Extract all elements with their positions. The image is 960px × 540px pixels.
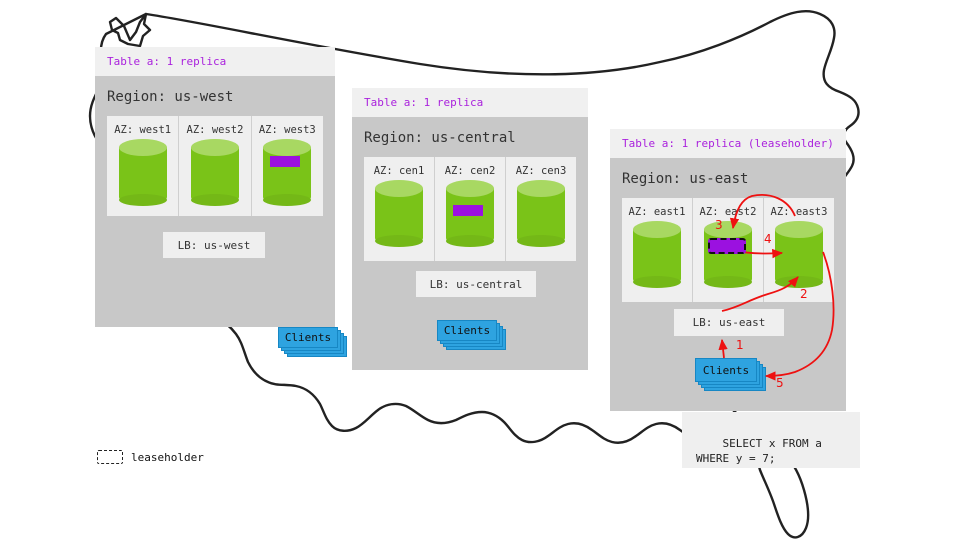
clients-stack-us-west[interactable]: Clients [278, 327, 344, 353]
cylinder-top [633, 221, 681, 238]
region-panel-us-east: Table a: 1 replica (leaseholder) Region:… [610, 129, 846, 411]
az-west1[interactable]: AZ: west1 [107, 116, 179, 216]
region-title-us-central: Region: us-central [352, 117, 588, 157]
step-number-5: 5 [776, 377, 784, 389]
node-cylinder-west1 [119, 147, 167, 205]
cylinder-top [446, 180, 494, 197]
legend-label: leaseholder [131, 452, 204, 463]
az-cen2[interactable]: AZ: cen2 [435, 157, 506, 261]
replica-block-cen2 [453, 205, 483, 216]
node-cylinder-cen1 [375, 188, 423, 246]
sql-query-box: SELECT x FROM a WHERE y = 7; [682, 412, 860, 468]
usa-outline-path [110, 14, 150, 46]
step-number-2: 2 [800, 288, 808, 300]
legend: leaseholder [97, 450, 204, 464]
cylinder-bottom [191, 194, 239, 206]
cylinder-bottom [704, 276, 752, 288]
replica-block-east2-leaseholder [708, 238, 746, 254]
clients-button-us-west[interactable]: Clients [278, 327, 338, 348]
step-number-1: 1 [736, 339, 744, 351]
step-number-4: 4 [764, 233, 772, 245]
node-cylinder-east1 [633, 229, 681, 287]
node-cylinder-cen2 [446, 188, 494, 246]
region-title-us-west: Region: us-west [95, 76, 335, 116]
cylinder-top [191, 139, 239, 156]
lb-label-us-west: LB: us-west [178, 240, 251, 251]
cylinder-top [375, 180, 423, 197]
az-label-east2: AZ: east2 [700, 207, 757, 218]
clients-label-us-central: Clients [444, 325, 490, 336]
cylinder-bottom [119, 194, 167, 206]
clients-button-us-central[interactable]: Clients [437, 320, 497, 341]
az-east2[interactable]: AZ: east2 [693, 198, 764, 302]
replica-block-west3 [270, 156, 300, 167]
az-label-west1: AZ: west1 [114, 125, 171, 136]
cylinder-bottom [775, 276, 823, 288]
panel-header-us-central: Table a: 1 replica [352, 88, 588, 117]
az-east1[interactable]: AZ: east1 [622, 198, 693, 302]
lb-label-us-east: LB: us-east [693, 317, 766, 328]
lb-label-us-central: LB: us-central [430, 279, 523, 290]
node-cylinder-east2 [704, 229, 752, 287]
cylinder-top [775, 221, 823, 238]
region-panel-us-central: Table a: 1 replica Region: us-central AZ… [352, 88, 588, 370]
az-label-east3: AZ: east3 [771, 207, 828, 218]
diagram-canvas: Table a: 1 replica Region: us-west AZ: w… [0, 0, 960, 540]
clients-stack-us-central[interactable]: Clients [437, 320, 503, 346]
cylinder-bottom [633, 276, 681, 288]
cylinder-top [517, 180, 565, 197]
az-label-cen1: AZ: cen1 [374, 166, 425, 177]
clients-stack-us-east[interactable]: Clients [695, 358, 765, 388]
az-cen3[interactable]: AZ: cen3 [506, 157, 576, 261]
load-balancer-us-east[interactable]: LB: us-east [674, 309, 784, 336]
clients-button-us-east[interactable]: Clients [695, 358, 757, 382]
cylinder-bottom [517, 235, 565, 247]
sql-query-text: SELECT x FROM a WHERE y = 7; [696, 437, 822, 465]
az-label-west2: AZ: west2 [187, 125, 244, 136]
az-east3[interactable]: AZ: east3 [764, 198, 834, 302]
az-west3[interactable]: AZ: west3 [252, 116, 323, 216]
panel-header-us-west: Table a: 1 replica [95, 47, 335, 76]
panel-header-us-east: Table a: 1 replica (leaseholder) [610, 129, 846, 158]
az-label-cen3: AZ: cen3 [516, 166, 567, 177]
cylinder-top [704, 221, 752, 238]
clients-label-us-east: Clients [703, 365, 749, 376]
node-cylinder-west2 [191, 147, 239, 205]
step-number-3: 3 [715, 219, 723, 231]
cylinder-bottom [446, 235, 494, 247]
leaseholder-swatch-icon [97, 450, 123, 464]
az-label-west3: AZ: west3 [259, 125, 316, 136]
cylinder-top [119, 139, 167, 156]
node-cylinder-east3 [775, 229, 823, 287]
cylinder-top [263, 139, 311, 156]
az-west2[interactable]: AZ: west2 [179, 116, 251, 216]
clients-label-us-west: Clients [285, 332, 331, 343]
az-row-us-west: AZ: west1 AZ: west2 AZ: west3 [107, 116, 323, 216]
region-title-us-east: Region: us-east [610, 158, 846, 198]
load-balancer-us-west[interactable]: LB: us-west [163, 232, 265, 258]
az-row-us-central: AZ: cen1 AZ: cen2 AZ: cen3 [364, 157, 576, 261]
az-cen1[interactable]: AZ: cen1 [364, 157, 435, 261]
cylinder-bottom [375, 235, 423, 247]
node-cylinder-west3 [263, 147, 311, 205]
load-balancer-us-central[interactable]: LB: us-central [416, 271, 536, 297]
az-label-east1: AZ: east1 [629, 207, 686, 218]
cylinder-bottom [263, 194, 311, 206]
node-cylinder-cen3 [517, 188, 565, 246]
region-panel-us-west: Table a: 1 replica Region: us-west AZ: w… [95, 47, 335, 327]
az-label-cen2: AZ: cen2 [445, 166, 496, 177]
